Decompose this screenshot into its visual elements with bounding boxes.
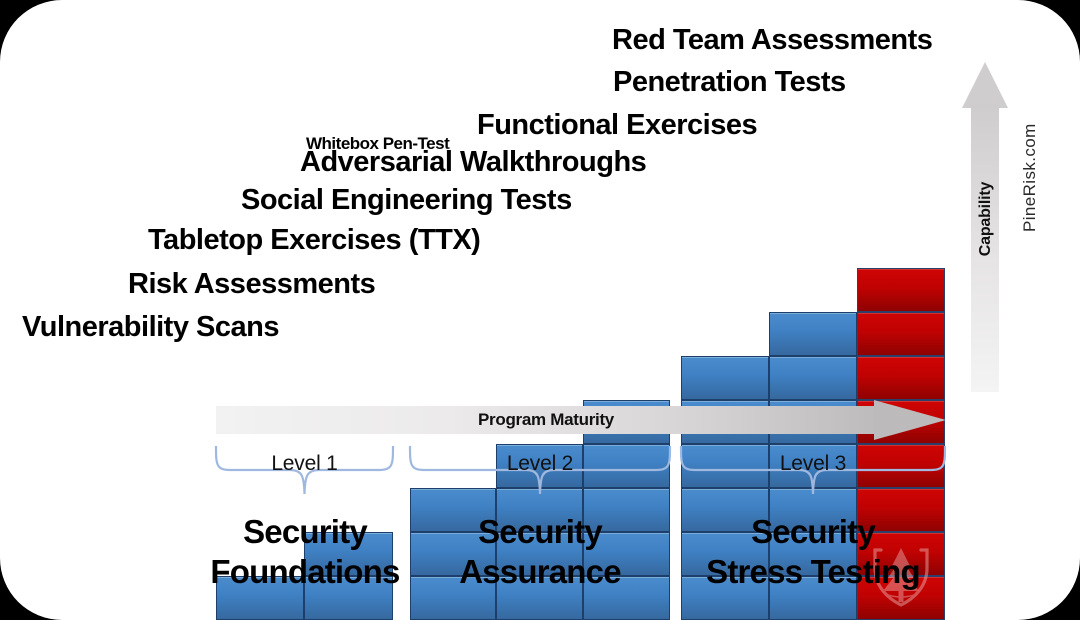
level-tick-1: Level 1 [214,452,395,476]
program-maturity-label: Program Maturity [216,406,876,434]
category-title-2-line1: Security [418,512,662,552]
step-label-functional-exercises: Functional Exercises [477,109,757,142]
block [769,312,857,356]
block [857,312,945,356]
block [857,268,945,312]
infographic-card: Vulnerability Scans Risk Assessments Tab… [0,0,1080,620]
program-maturity-axis: Program Maturity [216,400,946,440]
right-arrow-icon [874,400,946,440]
category-title-1: Security Foundations [180,512,430,593]
category-title-3: Security Stress Testing [672,512,954,593]
category-title-3-line1: Security [672,512,954,552]
step-label-social-engineering: Social Engineering Tests [241,184,572,217]
capability-label: Capability [977,99,995,339]
block [769,356,857,400]
step-label-tabletop-exercises: Tabletop Exercises (TTX) [148,224,480,257]
category-title-2-line2: Assurance [418,552,662,592]
step-label-penetration-tests: Penetration Tests [613,66,846,99]
brand-watermark: PineRisk.com [1020,32,1040,232]
capability-axis: Capability [962,62,1008,392]
category-title-2: Security Assurance [418,512,662,593]
category-title-1-line1: Security [180,512,430,552]
level-tick-2: Level 2 [408,452,672,476]
category-title-1-line2: Foundations [180,552,430,592]
step-label-red-team-assessments: Red Team Assessments [612,24,932,57]
level-tick-3: Level 3 [679,452,947,476]
block [681,356,769,400]
category-title-3-line2: Stress Testing [672,552,954,592]
step-label-adversarial-walkthroughs: Adversarial Walkthroughs [300,146,646,179]
block [857,356,945,400]
